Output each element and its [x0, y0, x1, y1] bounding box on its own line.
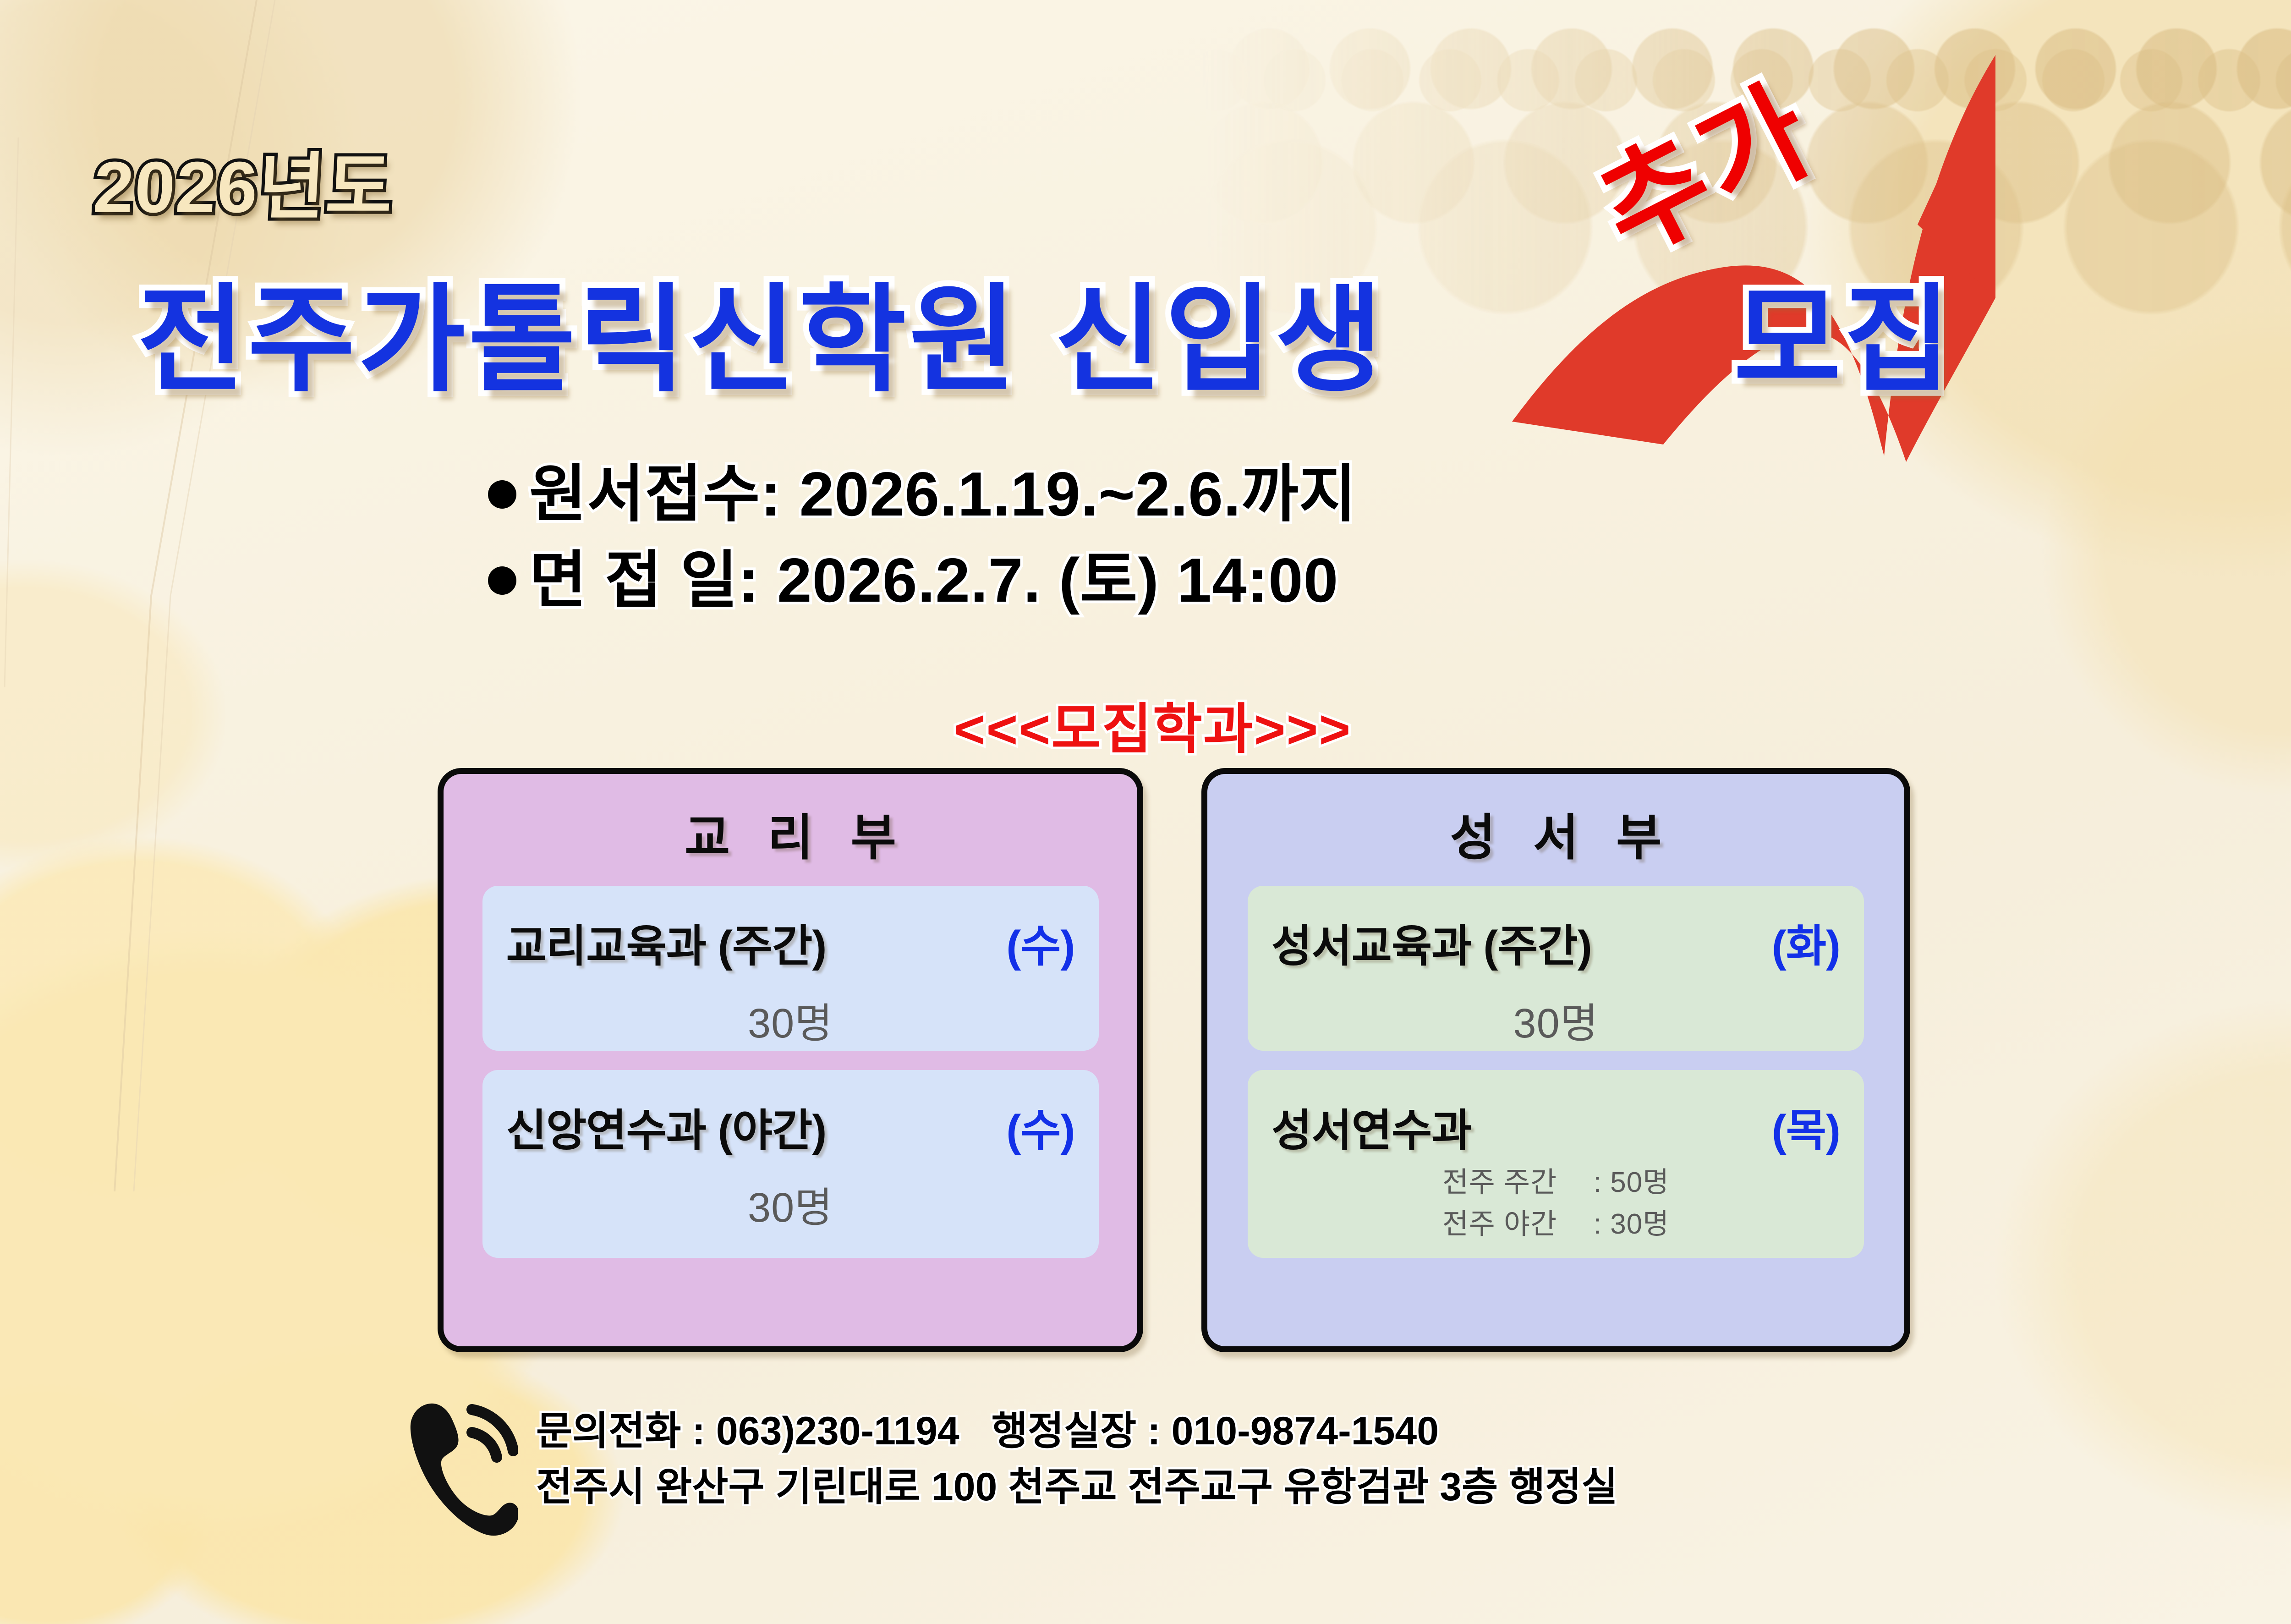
- capacity-colon-day: :: [1594, 1167, 1602, 1198]
- contact-label-admin: 행정실장: [992, 1409, 1136, 1453]
- department-card-group: 교 리 부 교리교육과 (주간) (수) 30명 신앙연수과 (야간) (수) …: [0, 768, 2291, 1359]
- program-day-bible-education: (화): [1754, 911, 1840, 974]
- phone-icon: [403, 1393, 518, 1540]
- schedule-colon-interview: :: [738, 545, 759, 615]
- program-name-doctrine-education: 교리교육과 (주간): [506, 911, 827, 974]
- program-capacity-doctrine-education: 30명: [482, 990, 1099, 1049]
- contact-line-phones: 문의전화 : 063)230-1194행정실장 : 010-9874-1540: [536, 1403, 1617, 1459]
- program-header-bible-education: 성서교육과 (주간) (화): [1248, 886, 1864, 974]
- program-box-bible-education: 성서교육과 (주간) (화) 30명: [1248, 886, 1864, 1051]
- program-name-faith-training: 신앙연수과 (야간): [506, 1095, 827, 1158]
- program-box-faith-training: 신앙연수과 (야간) (수) 30명: [482, 1070, 1099, 1258]
- contact-line-address: 전주시 완산구 기린대로 100 천주교 전주교구 유항검관 3층 행정실: [536, 1459, 1617, 1515]
- schedule-item-application: 원서접수: 2026.1.19.~2.6.까지: [488, 451, 1357, 538]
- capacity-line-night: 전주 야간: 30명: [1248, 1204, 1864, 1245]
- contact-text-block: 문의전화 : 063)230-1194행정실장 : 010-9874-1540 …: [536, 1393, 1617, 1515]
- bullet-dot-icon: [488, 566, 516, 595]
- year-label: 2026년도: [91, 128, 396, 233]
- capacity-value-day: 50명: [1610, 1167, 1669, 1198]
- schedule-label-interview: 면 접 일: [529, 538, 738, 624]
- poster-canvas: 2026년도 추가 전주가톨릭신학원 신입생모집 원서접수: 2026.1.19…: [0, 0, 2291, 1624]
- capacity-line-day: 전주 주간: 50명: [1248, 1162, 1864, 1204]
- schedule-label-application: 원서접수: [529, 451, 760, 538]
- department-card-bible: 성 서 부 성서교육과 (주간) (화) 30명 성서연수과 (목) 전주 주간…: [1201, 768, 1910, 1352]
- schedule-colon-application: :: [760, 459, 781, 529]
- schedule-list: 원서접수: 2026.1.19.~2.6.까지 면 접 일: 2026.2.7.…: [488, 451, 1357, 623]
- page-title: 전주가톨릭신학원 신입생모집: [137, 245, 1954, 414]
- program-header-faith-training: 신앙연수과 (야간) (수): [482, 1070, 1099, 1158]
- program-header-bible-training: 성서연수과 (목): [1248, 1070, 1864, 1158]
- program-capacity-faith-training: 30명: [482, 1174, 1099, 1234]
- capacity-colon-night: :: [1594, 1208, 1602, 1240]
- bullet-dot-icon: [488, 480, 516, 509]
- program-box-bible-training: 성서연수과 (목) 전주 주간: 50명 전주 야간: 30명: [1248, 1070, 1864, 1258]
- schedule-item-interview: 면 접 일: 2026.2.7. (토) 14:00: [488, 538, 1357, 624]
- contact-label-inquiry: 문의전화: [536, 1409, 681, 1453]
- program-box-doctrine-education: 교리교육과 (주간) (수) 30명: [482, 886, 1099, 1051]
- schedule-value-interview: 2026.2.7. (토) 14:00: [777, 545, 1338, 615]
- contact-footer: 문의전화 : 063)230-1194행정실장 : 010-9874-1540 …: [403, 1393, 1617, 1540]
- contact-value-admin[interactable]: 010-9874-1540: [1172, 1409, 1439, 1453]
- program-day-faith-training: (수): [988, 1095, 1074, 1158]
- capacity-key-day: 전주 주간: [1442, 1162, 1594, 1204]
- program-day-doctrine-education: (수): [988, 911, 1074, 974]
- capacity-value-night: 30명: [1610, 1208, 1669, 1240]
- contact-value-inquiry[interactable]: 063)230-1194: [716, 1409, 959, 1453]
- program-header-doctrine-education: 교리교육과 (주간) (수): [482, 886, 1099, 974]
- department-name-bible: 성 서 부: [1207, 798, 1904, 869]
- department-card-doctrine: 교 리 부 교리교육과 (주간) (수) 30명 신앙연수과 (야간) (수) …: [438, 768, 1143, 1352]
- capacity-key-night: 전주 야간: [1442, 1204, 1594, 1245]
- department-name-doctrine: 교 리 부: [444, 798, 1137, 869]
- program-name-bible-training: 성서연수과: [1272, 1095, 1472, 1158]
- program-day-bible-training: (목): [1754, 1095, 1840, 1158]
- section-label-departments: <<<모집학과>>>: [0, 685, 2291, 763]
- page-title-part2: 모집: [1733, 275, 1954, 406]
- page-title-part1: 전주가톨릭신학원 신입생: [137, 275, 1385, 406]
- schedule-value-application: 2026.1.19.~2.6.까지: [800, 459, 1357, 529]
- program-capacity-bible-training: 전주 주간: 50명 전주 야간: 30명: [1248, 1162, 1864, 1245]
- program-capacity-bible-education: 30명: [1248, 990, 1864, 1049]
- program-name-bible-education: 성서교육과 (주간): [1272, 911, 1592, 974]
